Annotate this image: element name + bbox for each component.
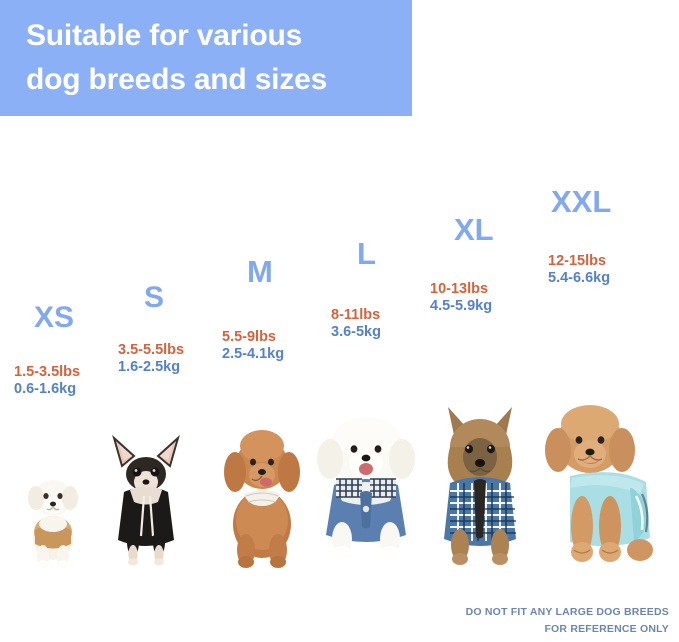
size-column-m: M 5.5-9lbs 2.5-4.1kg (222, 256, 284, 363)
size-weights-s: 3.5-5.5lbs 1.6-2.5kg (118, 342, 184, 376)
size-column-xs: XS 1.5-3.5lbs 0.6-1.6kg (14, 303, 80, 398)
banner-title-line-2: dog breeds and sizes (26, 58, 412, 102)
size-weights-l: 8-11lbs 3.6-5kg (331, 307, 381, 341)
size-weights-xs: 1.5-3.5lbs 0.6-1.6kg (14, 364, 80, 398)
dog-image-xxl (536, 400, 672, 570)
banner-title-line-1: Suitable for various (26, 14, 412, 58)
size-weight-lbs-xxl: 12-15lbs (548, 253, 611, 270)
dog-image-xl (428, 405, 532, 570)
size-weight-lbs-xs: 1.5-3.5lbs (14, 364, 80, 381)
size-weight-lbs-xl: 10-13lbs (430, 281, 494, 298)
dog-image-s (100, 430, 192, 570)
size-weight-kg-l: 3.6-5kg (331, 324, 381, 341)
size-weights-xxl: 12-15lbs 5.4-6.6kg (548, 253, 611, 287)
footer-line-2: FOR REFERENCE ONLY (466, 621, 669, 637)
dog-image-l (306, 415, 426, 570)
dog-image-m (218, 420, 306, 570)
size-label-m: M (247, 256, 284, 287)
size-column-xxl: XXL 12-15lbs 5.4-6.6kg (548, 186, 611, 287)
size-label-xs: XS (34, 303, 80, 333)
size-weight-lbs-s: 3.5-5.5lbs (118, 342, 184, 359)
size-chart-page: Suitable for various dog breeds and size… (0, 0, 679, 642)
size-weight-kg-xl: 4.5-5.9kg (430, 298, 494, 315)
size-weight-lbs-l: 8-11lbs (331, 307, 381, 324)
size-label-xl: XL (454, 214, 494, 245)
size-weights-xl: 10-13lbs 4.5-5.9kg (430, 281, 494, 315)
size-column-s: S 3.5-5.5lbs 1.6-2.5kg (118, 283, 184, 376)
size-weight-lbs-m: 5.5-9lbs (222, 329, 284, 346)
size-weight-kg-xxl: 5.4-6.6kg (548, 270, 611, 287)
footer-disclaimer: DO NOT FIT ANY LARGE DOG BREEDS FOR REFE… (466, 604, 669, 637)
size-column-xl: XL 10-13lbs 4.5-5.9kg (430, 214, 494, 315)
size-label-s: S (144, 283, 184, 313)
size-weight-kg-xs: 0.6-1.6kg (14, 381, 80, 398)
footer-line-1: DO NOT FIT ANY LARGE DOG BREEDS (466, 604, 669, 620)
size-column-l: L 8-11lbs 3.6-5kg (331, 238, 381, 341)
dog-image-xs (22, 460, 84, 570)
size-label-xxl: XXL (551, 186, 611, 217)
size-weights-m: 5.5-9lbs 2.5-4.1kg (222, 329, 284, 363)
size-weight-kg-m: 2.5-4.1kg (222, 346, 284, 363)
dog-images-row (0, 400, 679, 570)
size-weight-kg-s: 1.6-2.5kg (118, 359, 184, 376)
header-banner: Suitable for various dog breeds and size… (0, 0, 412, 116)
size-label-l: L (357, 238, 381, 269)
